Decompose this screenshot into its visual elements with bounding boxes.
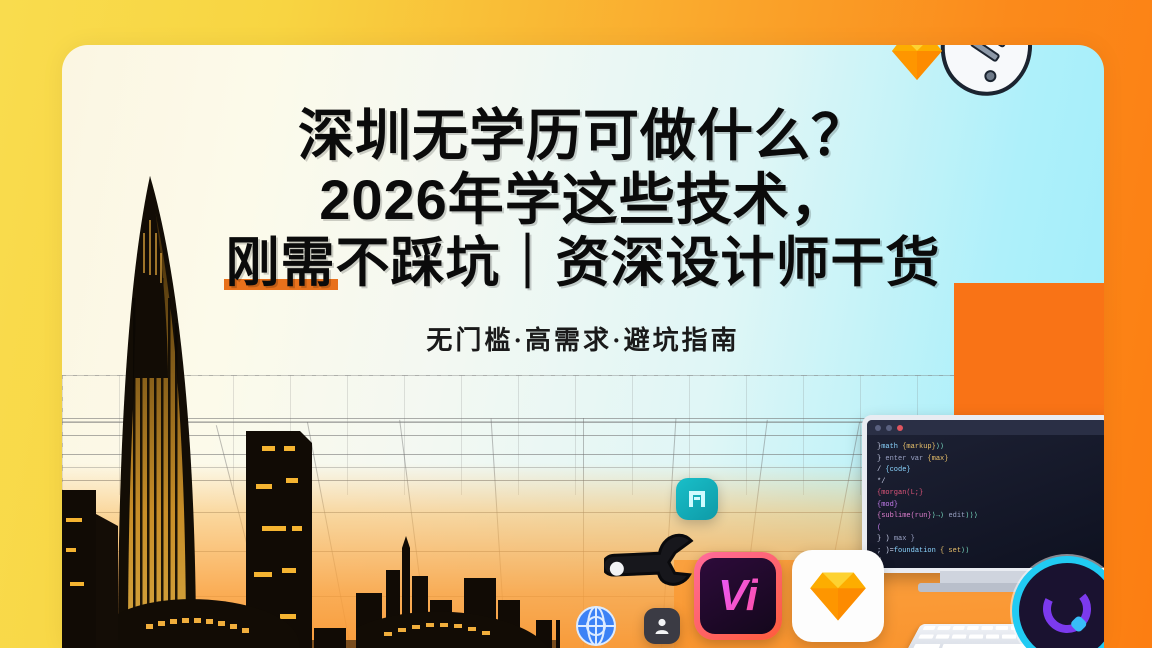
floor-vertical-line: [62, 434, 119, 648]
person-glyph: [652, 616, 672, 636]
code-token: edit: [944, 512, 965, 520]
floor-vertical-line: [491, 418, 506, 648]
editor-titlebar: [867, 420, 1104, 435]
vi-icon-inner: Vi: [700, 558, 776, 634]
sketch-diamond-glyph: [808, 568, 868, 624]
code-token: {code}: [885, 466, 910, 474]
vi-label: Vi: [718, 571, 758, 621]
code-token: { set: [940, 547, 961, 555]
code-line: } enter var {max}: [877, 454, 1097, 466]
code-token: {mod}: [877, 501, 898, 509]
wrench-black-icon[interactable]: [604, 512, 700, 608]
code-token: enter var: [885, 455, 927, 463]
code-token: math: [881, 443, 902, 451]
code-token: ⟩⟩: [936, 443, 944, 451]
title-highlight: 刚需: [226, 235, 336, 291]
code-token: morgan(L;}: [881, 489, 923, 497]
code-token: ⟩→⟩: [932, 512, 945, 520]
code-token: foundation: [894, 547, 940, 555]
teal-app-icon[interactable]: [676, 478, 718, 520]
code-line: {morgan(L;}: [877, 488, 1097, 500]
code-token: ⟩⟩: [961, 547, 969, 555]
code-line: } ) max }: [877, 534, 1097, 546]
title-line-2: 2026年学这些技术，: [62, 171, 1104, 229]
code-token: (: [877, 524, 881, 532]
title-line-3-rest: 不踩坑｜资深设计师干货: [336, 233, 941, 293]
camera-ring-glyph: [1036, 580, 1098, 642]
code-token: } ): [877, 535, 894, 543]
code-line: {sublime(run}⟩→⟩ edit⟩⟩⟩: [877, 511, 1097, 523]
code-token: {markup}: [902, 443, 936, 451]
code-token: */: [877, 478, 885, 486]
title-line-1: 深圳无学历可做什么？: [62, 107, 1104, 165]
teal-app-glyph: [685, 487, 709, 511]
floor-vertical-line: [307, 422, 351, 648]
floor-vertical-line: [216, 425, 274, 648]
code-line: {mod}: [877, 500, 1097, 512]
code-token: ⟩⟩⟩: [965, 512, 978, 520]
floor-vertical-line: [124, 429, 196, 648]
code-line: }math {markup}⟩⟩: [877, 442, 1097, 454]
person-icon[interactable]: [644, 608, 680, 644]
code-line: */: [877, 477, 1097, 489]
code-editor-screen[interactable]: }math {markup}⟩⟩} enter var {max}/ {code…: [862, 415, 1104, 573]
window-dot-1: [875, 425, 881, 431]
code-token: max }: [894, 535, 915, 543]
code-content: }math {markup}⟩⟩} enter var {max}/ {code…: [867, 435, 1104, 573]
code-line: / {code}: [877, 465, 1097, 477]
title-block: 深圳无学历可做什么？ 2026年学这些技术， 刚需不踩坑｜资深设计师干货 无门槛…: [62, 107, 1104, 357]
poster-root: 深圳无学历可做什么？ 2026年学这些技术， 刚需不踩坑｜资深设计师干货 无门槛…: [0, 0, 1152, 648]
subtitle: 无门槛·高需求·避坑指南: [62, 320, 1104, 357]
sketch-diamond-icon[interactable]: [890, 45, 944, 83]
vi-app-icon[interactable]: Vi: [694, 552, 782, 640]
code-line: (: [877, 523, 1097, 535]
code-token: ; )=: [877, 547, 894, 555]
title-line-3: 刚需不踩坑｜资深设计师干货: [62, 235, 1104, 291]
poster-card: 深圳无学历可做什么？ 2026年学这些技术， 刚需不踩坑｜资深设计师干货 无门槛…: [62, 45, 1104, 648]
sketch-card-icon[interactable]: [792, 550, 884, 642]
window-dot-2: [886, 425, 892, 431]
window-dot-3: [897, 425, 903, 431]
code-token: {sublime(run}: [877, 512, 932, 520]
code-token: {max}: [927, 455, 948, 463]
globe-icon[interactable]: [574, 604, 618, 648]
